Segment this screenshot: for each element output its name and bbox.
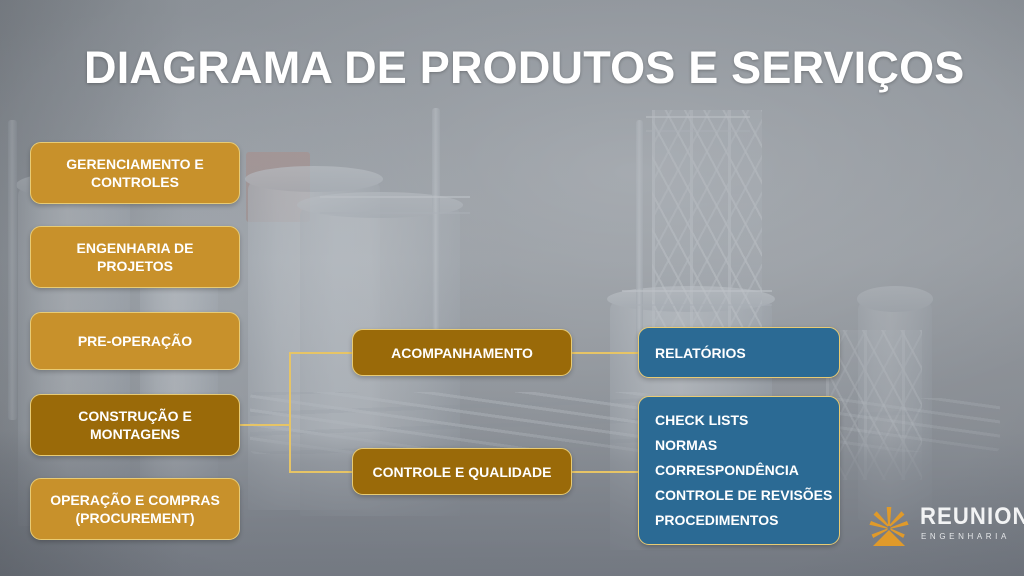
- documentos-list: CHECK LISTS NORMAS CORRESPONDÊNCIA CONTR…: [655, 408, 832, 533]
- connector-controle-qualidade-to-list: [571, 471, 639, 473]
- list-item: PROCEDIMENTOS: [655, 508, 832, 533]
- box-engenharia-de-projetos[interactable]: ENGENHARIA DE PROJETOS: [30, 226, 240, 288]
- connector-bus-to-acompanhamento: [289, 352, 353, 354]
- box-label: RELATÓRIOS: [655, 345, 746, 361]
- box-line-1: OPERAÇÃO E COMPRAS: [50, 491, 220, 509]
- slide-canvas: DIAGRAMA DE PRODUTOS E SERVIÇOS GERENCIA…: [0, 0, 1024, 576]
- box-line-2: PROJETOS: [77, 257, 194, 275]
- box-line-2: (PROCUREMENT): [50, 509, 220, 527]
- connector-vertical-bus: [289, 352, 291, 472]
- box-acompanhamento[interactable]: ACOMPANHAMENTO: [352, 329, 572, 376]
- box-label: CONTROLE E QUALIDADE: [373, 464, 552, 480]
- box-gerenciamento-e-controles[interactable]: GERENCIAMENTO E CONTROLES: [30, 142, 240, 204]
- box-line-1: GERENCIAMENTO E: [66, 155, 203, 173]
- box-documentos-list[interactable]: CHECK LISTS NORMAS CORRESPONDÊNCIA CONTR…: [638, 396, 840, 545]
- logo-wordmark: REUNION: [920, 505, 1024, 529]
- box-line-1: ENGENHARIA DE: [77, 239, 194, 257]
- box-line-1: CONSTRUÇÃO E: [78, 407, 192, 425]
- list-item: CONTROLE DE REVISÕES: [655, 483, 832, 508]
- slide-title: DIAGRAMA DE PRODUTOS E SERVIÇOS: [84, 44, 965, 91]
- box-construcao-e-montagens[interactable]: CONSTRUÇÃO E MONTAGENS: [30, 394, 240, 456]
- box-relatorios[interactable]: RELATÓRIOS: [638, 327, 840, 378]
- box-line-2: MONTAGENS: [78, 425, 192, 443]
- list-item: CORRESPONDÊNCIA: [655, 458, 832, 483]
- box-line-2: CONTROLES: [66, 173, 203, 191]
- connector-acompanhamento-to-relatorios: [571, 352, 639, 354]
- box-pre-operacao[interactable]: PRE-OPERAÇÃO: [30, 312, 240, 370]
- box-operacao-e-compras[interactable]: OPERAÇÃO E COMPRAS (PROCUREMENT): [30, 478, 240, 540]
- company-logo: REUNION ENGENHARIA: [866, 503, 1016, 549]
- connector-bus-to-controle-qualidade: [289, 471, 353, 473]
- list-item: CHECK LISTS: [655, 408, 832, 433]
- connector-construcao-to-bus: [240, 424, 290, 426]
- box-label: ACOMPANHAMENTO: [391, 345, 533, 361]
- list-item: NORMAS: [655, 433, 832, 458]
- logo-tagline: ENGENHARIA: [921, 533, 1010, 541]
- box-controle-e-qualidade[interactable]: CONTROLE E QUALIDADE: [352, 448, 572, 495]
- box-line-1: PRE-OPERAÇÃO: [78, 332, 192, 350]
- sunburst-icon: [866, 504, 912, 546]
